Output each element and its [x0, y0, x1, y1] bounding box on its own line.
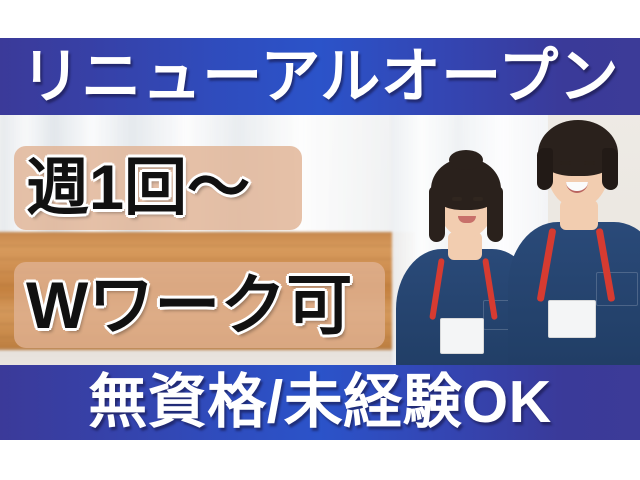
female-eye-right [473, 197, 483, 201]
job-ad-banner: リニューアルオープン 週1回〜 Wワーク可 無資格/未経験OK [0, 0, 640, 480]
headline-text: リニューアルオープン [21, 47, 619, 107]
male-hair-right-strand [602, 148, 618, 190]
feature-plate-shift-frequency: 週1回〜 [14, 146, 302, 230]
headline-ribbon: リニューアルオープン [0, 38, 640, 115]
feature-plate-double-work: Wワーク可 [14, 262, 385, 348]
footer-ribbon: 無資格/未経験OK [0, 365, 640, 440]
female-eye-left [452, 197, 462, 201]
female-hair-bun [449, 150, 483, 170]
male-id-badge [548, 300, 596, 338]
female-hair-left-strand [429, 186, 445, 242]
footer-text: 無資格/未経験OK [88, 373, 551, 432]
female-id-badge [440, 318, 484, 354]
male-hair-left-strand [537, 148, 553, 190]
male-eye-right [584, 161, 595, 165]
male-eye-left [560, 161, 571, 165]
male-shirt-pocket [596, 272, 638, 306]
feature-text-shift-frequency: 週1回〜 [14, 157, 250, 220]
female-hair-right-strand [487, 186, 503, 242]
feature-text-double-work: Wワーク可 [14, 272, 352, 338]
